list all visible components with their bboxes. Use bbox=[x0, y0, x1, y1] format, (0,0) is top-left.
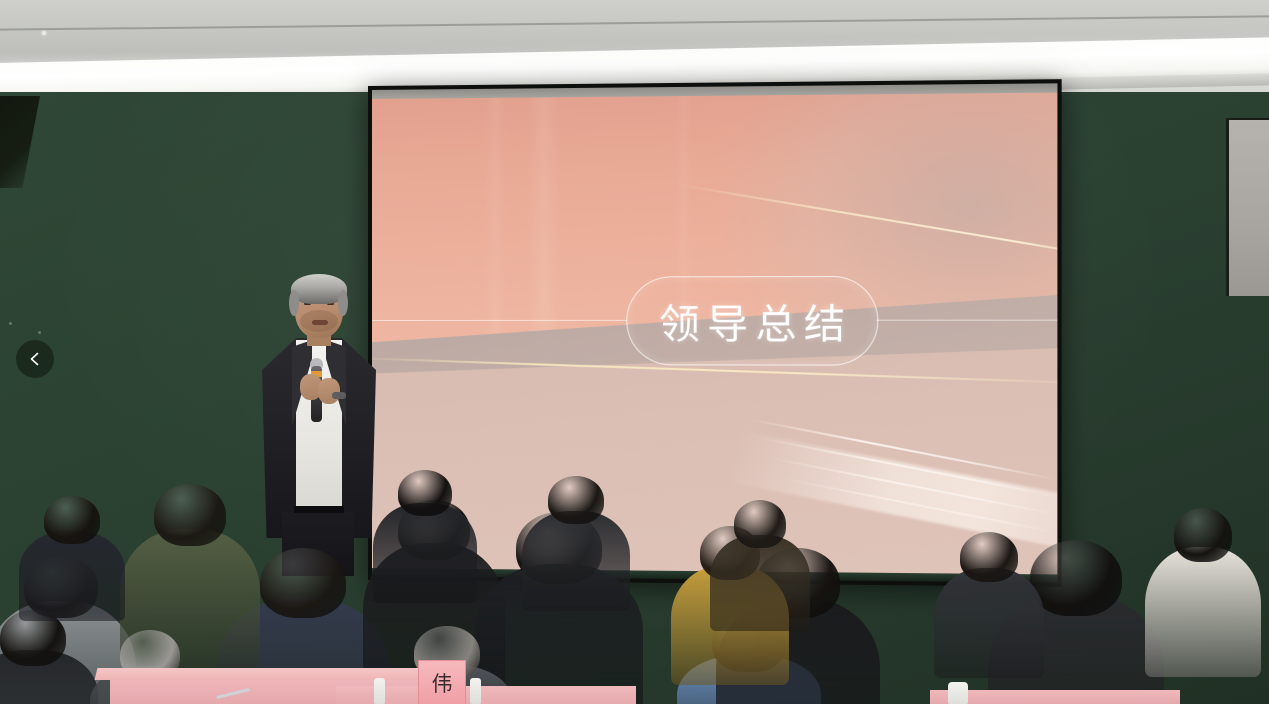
attendee-headband-torso bbox=[1145, 547, 1261, 677]
attendee-back-right-head bbox=[960, 532, 1018, 582]
table-edge bbox=[95, 668, 448, 680]
name-placard[interactable]: 伟 bbox=[418, 660, 466, 704]
secondary-whiteboard bbox=[1226, 118, 1269, 296]
ceiling-seam bbox=[0, 15, 1269, 30]
wall-speck bbox=[9, 322, 12, 325]
placard-name: 伟 bbox=[432, 668, 453, 698]
slide-rule-left bbox=[372, 320, 626, 322]
previous-image-button[interactable] bbox=[16, 340, 54, 378]
attendee-back-dark-head bbox=[398, 470, 452, 516]
presenter-watch bbox=[332, 392, 346, 399]
wall-speck bbox=[38, 331, 41, 334]
presenter-hair-side bbox=[289, 290, 299, 316]
screenshot-root: 领导总结 伟 bbox=[0, 0, 1269, 704]
slide-title-pill: 领导总结 bbox=[626, 276, 878, 366]
attendee-long-hair-torso bbox=[710, 535, 810, 631]
attendee-mid-left-torso bbox=[19, 531, 125, 621]
presenter-mouth bbox=[312, 320, 328, 325]
attendee-olive-sweater-head bbox=[154, 484, 226, 546]
attendee-mid-left-head bbox=[44, 496, 100, 544]
attendee-back-far-head bbox=[548, 476, 604, 524]
attendee-back-dark-torso bbox=[373, 503, 477, 603]
attendee-back-far-torso bbox=[522, 511, 630, 611]
slide-surface: 领导总结 bbox=[372, 93, 1057, 575]
attendee-dark-right-head bbox=[1030, 540, 1122, 616]
attendee-headband-head bbox=[1174, 508, 1232, 562]
projection-screen[interactable]: 领导总结 bbox=[368, 79, 1062, 587]
water-bottle bbox=[948, 682, 968, 704]
chevron-left-icon bbox=[27, 351, 43, 367]
presenter-hand bbox=[318, 378, 340, 404]
attendee-navy-suit-head bbox=[260, 548, 346, 618]
water-bottle bbox=[374, 678, 385, 704]
slide-rule-right bbox=[876, 320, 1057, 322]
attendee-back-right-torso bbox=[934, 568, 1044, 678]
slide-title: 领导总结 bbox=[652, 291, 853, 350]
presenter bbox=[248, 274, 388, 574]
presenter-hair-side bbox=[338, 290, 348, 316]
water-bottle bbox=[470, 678, 481, 704]
attendee-long-hair-head bbox=[734, 500, 786, 548]
presenter-belt bbox=[294, 506, 344, 513]
ceiling-fixture-dot bbox=[42, 31, 46, 35]
